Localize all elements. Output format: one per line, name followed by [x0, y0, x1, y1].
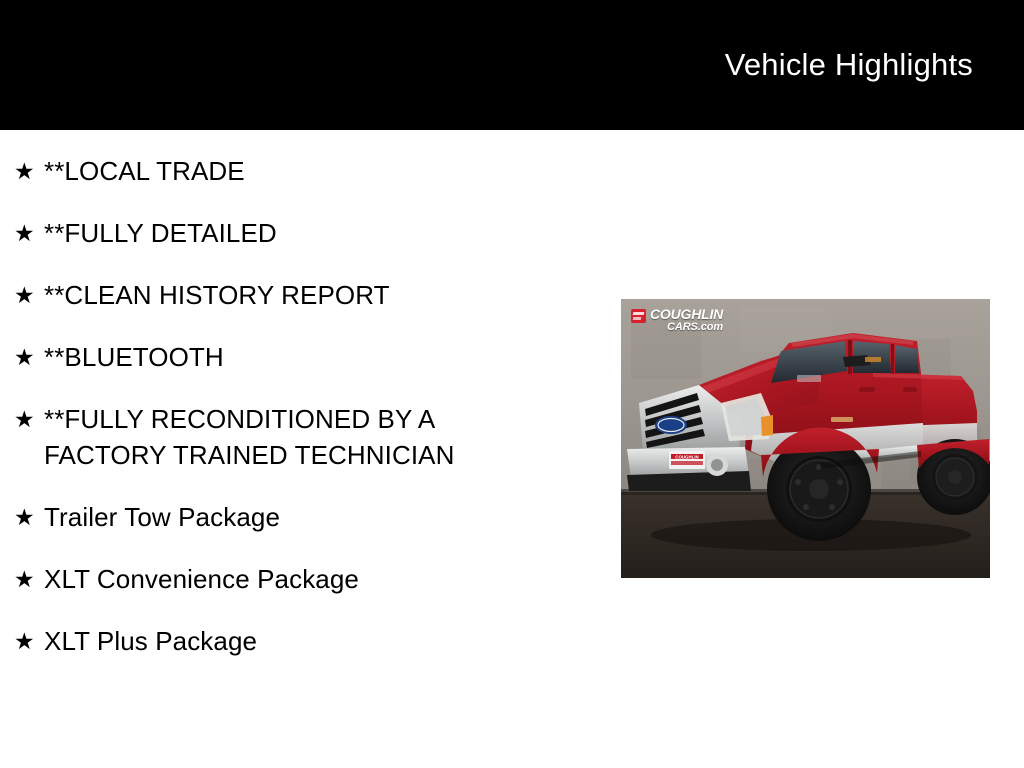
list-item: ★ XLT Convenience Package	[0, 561, 600, 597]
page-title: Vehicle Highlights	[725, 47, 1024, 83]
star-bullet-icon: ★	[14, 339, 44, 375]
highlight-label: **FULLY RECONDITIONED BY A FACTORY TRAIN…	[44, 401, 600, 473]
highlight-label: Trailer Tow Package	[44, 499, 600, 535]
highlight-label: **FULLY DETAILED	[44, 215, 600, 251]
star-bullet-icon: ★	[14, 499, 44, 535]
highlight-label: XLT Convenience Package	[44, 561, 600, 597]
star-bullet-icon: ★	[14, 401, 44, 437]
list-item: ★ **FULLY DETAILED	[0, 215, 600, 251]
highlight-label: **CLEAN HISTORY REPORT	[44, 277, 600, 313]
vehicle-photo[interactable]: COUGHLIN	[621, 299, 990, 578]
highlight-label: **BLUETOOTH	[44, 339, 600, 375]
highlight-label: **LOCAL TRADE	[44, 153, 600, 189]
list-item: ★ **FULLY RECONDITIONED BY A FACTORY TRA…	[0, 401, 600, 473]
list-item: ★ **CLEAN HISTORY REPORT	[0, 277, 600, 313]
star-bullet-icon: ★	[14, 623, 44, 659]
star-bullet-icon: ★	[14, 215, 44, 251]
vehicle-highlights-page: Vehicle Highlights ★ **LOCAL TRADE ★ **F…	[0, 0, 1024, 768]
list-item: ★ Trailer Tow Package	[0, 499, 600, 535]
svg-text:COUGHLIN: COUGHLIN	[675, 455, 698, 460]
star-bullet-icon: ★	[14, 277, 44, 313]
header-banner: Vehicle Highlights	[0, 0, 1024, 130]
star-bullet-icon: ★	[14, 561, 44, 597]
list-item: ★ **BLUETOOTH	[0, 339, 600, 375]
list-item: ★ XLT Plus Package	[0, 623, 600, 659]
list-item: ★ **LOCAL TRADE	[0, 153, 600, 189]
star-bullet-icon: ★	[14, 153, 44, 189]
highlight-label: XLT Plus Package	[44, 623, 600, 659]
vehicle-highlights-list: ★ **LOCAL TRADE ★ **FULLY DETAILED ★ **C…	[0, 130, 600, 659]
vehicle-photo-image: COUGHLIN	[621, 299, 990, 578]
